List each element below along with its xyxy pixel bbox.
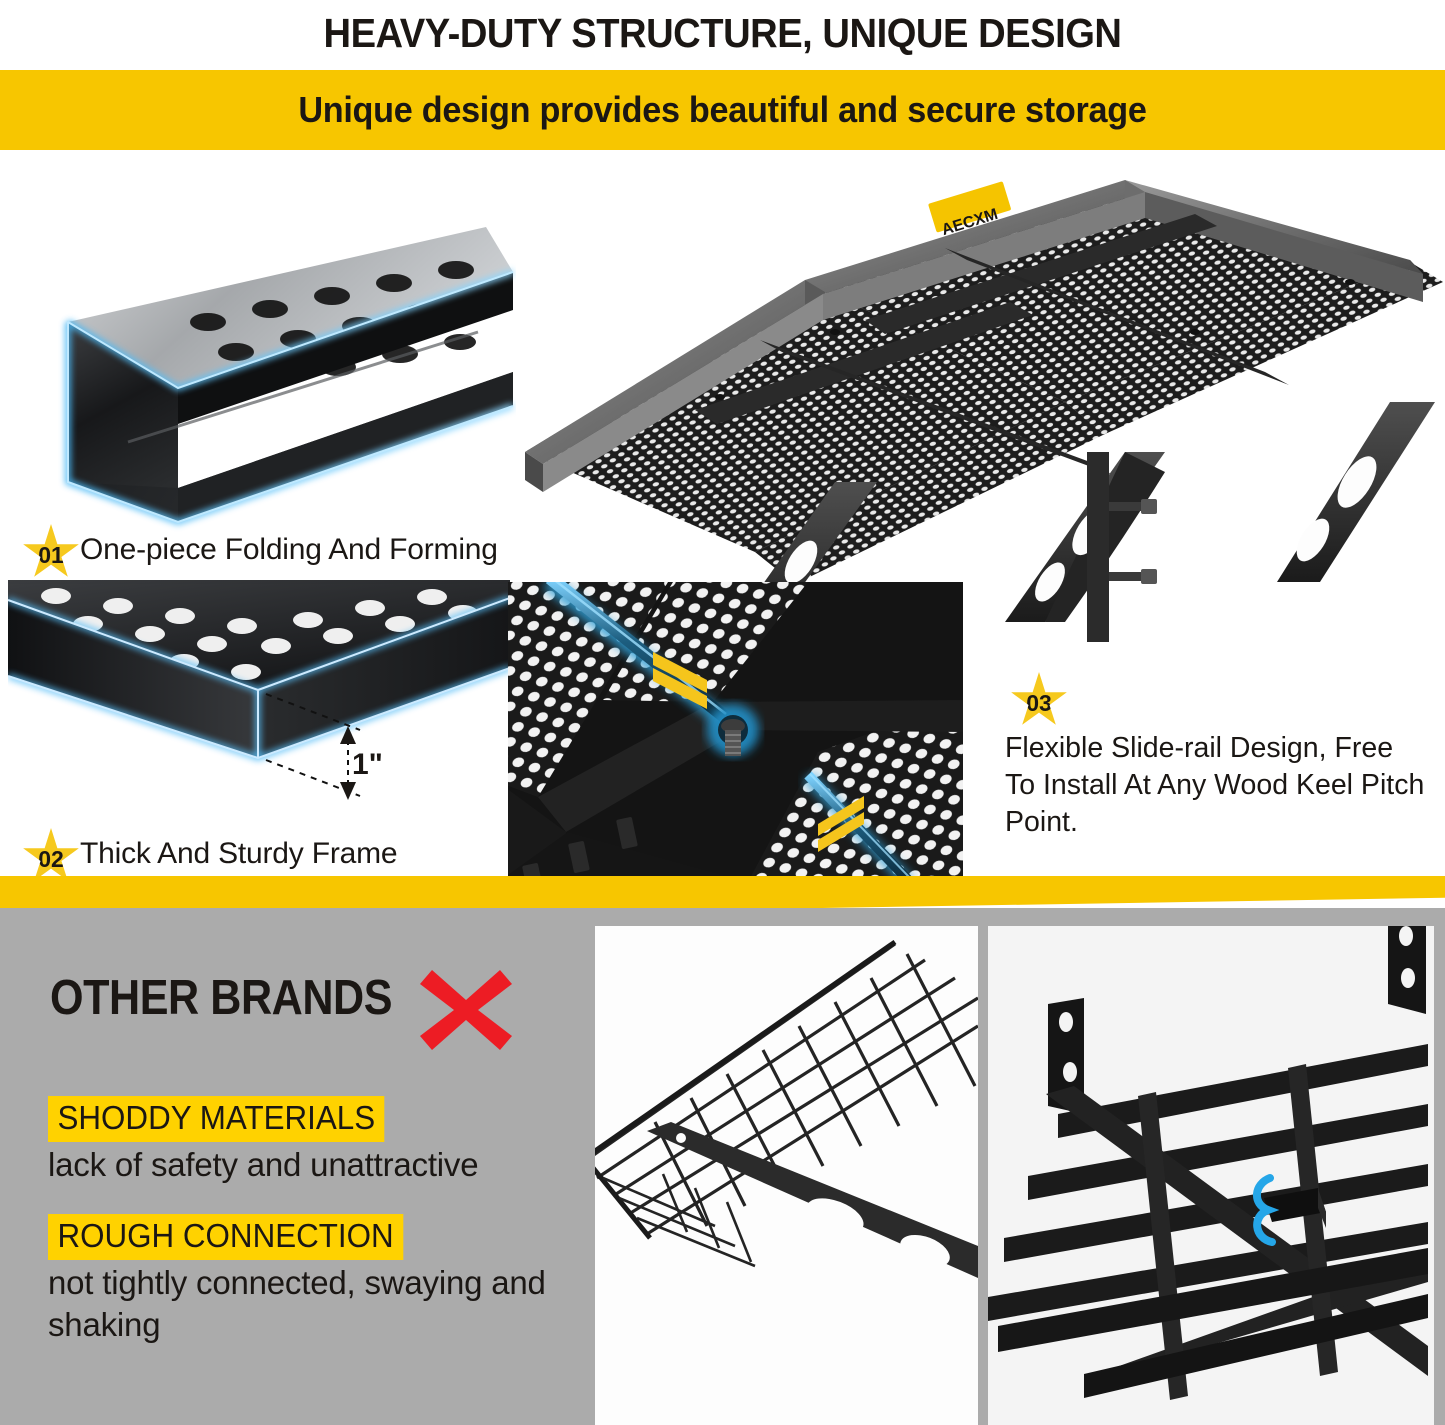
feature-image-sturdy-corner: 1": [8, 580, 516, 850]
red-x-icon: [416, 964, 516, 1056]
bolt-detail: [707, 704, 759, 756]
feature-number-01: 01: [38, 542, 64, 569]
feature-label-03: Flexible Slide-rail Design, Free To Inst…: [1005, 730, 1425, 841]
subtitle-text: Unique design provides beautiful and sec…: [298, 89, 1146, 131]
feature-label-02: Thick And Sturdy Frame: [80, 837, 397, 871]
feature-label-01: One-piece Folding And Forming: [80, 533, 498, 567]
feature-image-slide-rail: [508, 582, 963, 882]
comparison-point-detail-2: not tightly connected, swaying and shaki…: [48, 1262, 608, 1346]
comparison-point-heading-1: SHODDY MATERIALS: [48, 1096, 385, 1142]
comparison-title: OTHER BRANDS: [50, 970, 392, 1026]
competitor-photo-bar-frame: [988, 926, 1434, 1425]
feature-number-03: 03: [1026, 690, 1052, 717]
competitor-photo-wire-mesh: [595, 926, 978, 1425]
comparison-point-heading-2: ROUGH CONNECTION: [48, 1214, 403, 1260]
feature-section: AECXM: [0, 152, 1445, 882]
page-title: HEAVY-DUTY STRUCTURE, UNIQUE DESIGN: [51, 0, 1395, 66]
dimension-label: 1": [352, 748, 383, 782]
comparison-point-detail-1: lack of safety and unattractive: [48, 1144, 608, 1186]
subtitle-band: Unique design provides beautiful and sec…: [0, 70, 1445, 150]
feature-image-one-piece-channel: [8, 192, 516, 572]
comparison-section: OTHER BRANDS SHODDY MATERIALS lack of sa…: [0, 908, 1445, 1425]
feature-number-02: 02: [38, 846, 64, 873]
infographic-root: HEAVY-DUTY STRUCTURE, UNIQUE DESIGN Uniq…: [0, 0, 1445, 1425]
